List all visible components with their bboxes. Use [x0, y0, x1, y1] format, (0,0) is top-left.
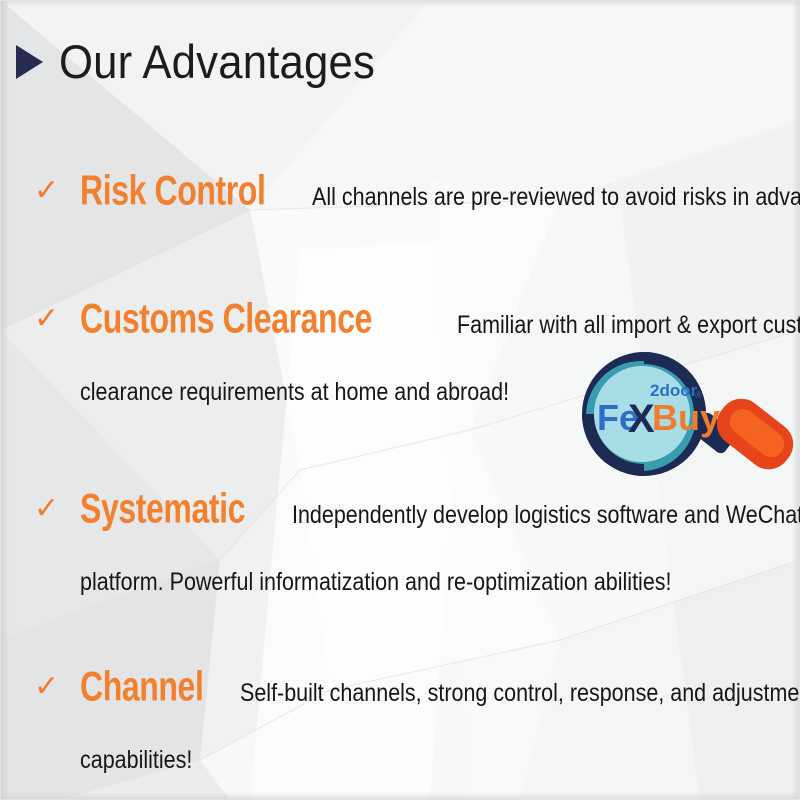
page-title: Our Advantages — [16, 38, 399, 85]
magnifying-glass-logo: Fe X Buy 2door ® — [566, 348, 800, 498]
logo-text-registered: ® — [695, 390, 702, 400]
page-title-text: Our Advantages — [59, 38, 375, 85]
list-item-description: All channels are pre-reviewed to avoid r… — [312, 185, 800, 210]
list-item-heading: Channel — [80, 666, 203, 708]
list-item-heading: Risk Control — [80, 170, 265, 212]
list-item-body: ChannelSelf-built channels, strong contr… — [80, 668, 780, 773]
checkmark-icon: ✓ — [34, 304, 59, 334]
logo-text-2door: 2door — [650, 381, 698, 400]
logo-text-x: X — [628, 397, 655, 441]
list-item-description: Independently develop logistics software… — [292, 503, 800, 528]
list-item-description: Self-built channels, strong control, res… — [240, 681, 800, 706]
list-item-body: SystematicIndependently develop logistic… — [80, 490, 780, 595]
logo-text-buy: Buy — [652, 397, 720, 438]
list-item-description-cont: platform. Powerful informatization and r… — [80, 570, 682, 595]
list-item-line: Customs ClearanceFamiliar with all impor… — [80, 300, 780, 340]
list-item-body: Risk ControlAll channels are pre-reviewe… — [80, 172, 780, 212]
list-item-description-cont: capabilities! — [80, 748, 682, 773]
advantages-slide: Our Advantages ✓ Risk ControlAll channel… — [0, 0, 800, 800]
checkmark-icon: ✓ — [34, 176, 59, 206]
list-item-heading: Systematic — [80, 488, 245, 530]
list-item-heading: Customs Clearance — [80, 298, 372, 340]
triangle-right-icon — [16, 45, 43, 79]
list-item-description: Familiar with all import & export custom… — [457, 313, 800, 338]
checkmark-icon: ✓ — [34, 672, 59, 702]
list-item-line: Risk ControlAll channels are pre-reviewe… — [80, 172, 780, 212]
checkmark-icon: ✓ — [34, 494, 59, 524]
list-item-line: ChannelSelf-built channels, strong contr… — [80, 668, 780, 708]
